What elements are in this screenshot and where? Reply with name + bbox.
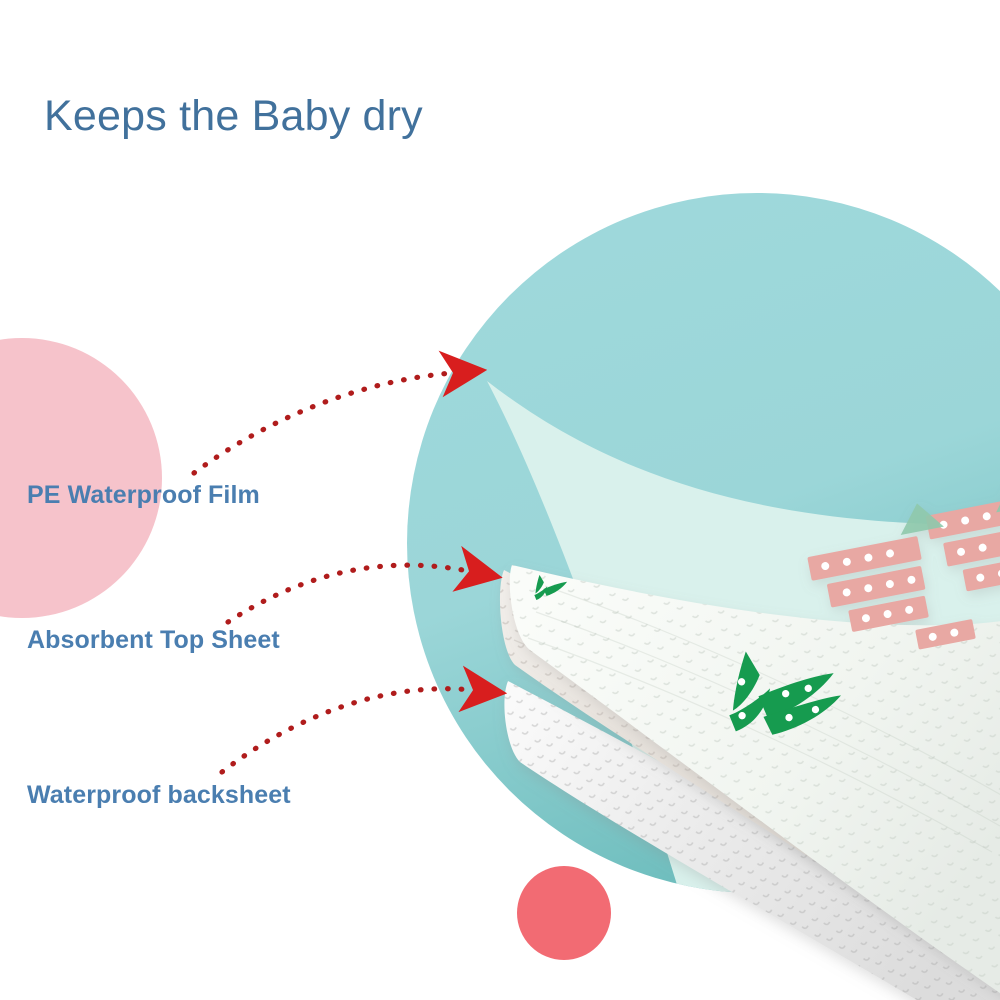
callout-label-waterproof-backsheet: Waterproof backsheet — [27, 781, 291, 810]
page-title: Keeps the Baby dry — [44, 92, 423, 141]
callout-label-pe-waterproof-film: PE Waterproof Film — [27, 481, 260, 510]
infographic-canvas: Keeps the Baby dry PE Waterproof Film Ab… — [0, 0, 1000, 1000]
callout-label-absorbent-top-sheet: Absorbent Top Sheet — [27, 626, 280, 655]
coral-circle — [517, 866, 611, 960]
